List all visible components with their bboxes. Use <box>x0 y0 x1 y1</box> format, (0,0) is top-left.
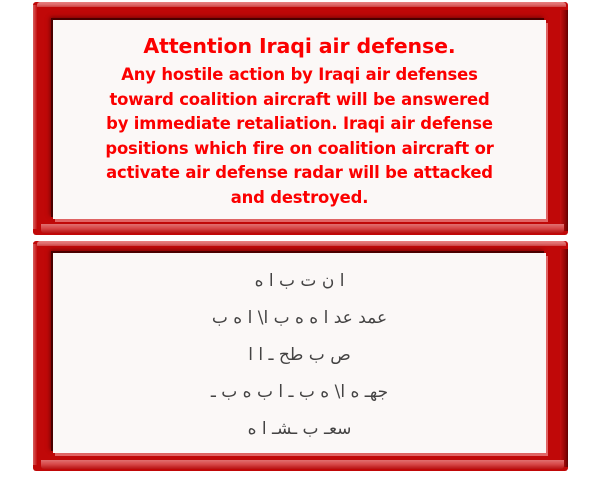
english-body-line-2: toward coalition aircraft will be answer… <box>53 88 546 113</box>
arabic-body-line-5: سعـ ب ـشـ ا ه <box>53 411 546 448</box>
english-text-field: Attention Iraqi air defense. Any hostile… <box>53 20 546 219</box>
arabic-text-block: ا ن ت ب ا ه عمد عد ا ه ه ب ا\ ا ه ب ص ب … <box>53 263 546 448</box>
english-body-line-4: positions which fire on coalition aircra… <box>53 137 546 162</box>
english-body-line-5: activate air defense radar will be attac… <box>53 161 546 186</box>
arabic-body-line-4: جهـ ه ا\ ه ب ـ ا ب ه ب ـ <box>53 374 546 411</box>
arabic-body-line-1: ا ن ت ب ا ه <box>53 263 546 300</box>
panel-right-shadow <box>560 249 568 467</box>
panel-bottom-highlight <box>41 460 564 469</box>
leaflet-graphic: Attention Iraqi air defense. Any hostile… <box>0 0 600 480</box>
english-message-panel: Attention Iraqi air defense. Any hostile… <box>33 2 568 235</box>
english-headline: Attention Iraqi air defense. <box>53 33 546 59</box>
panel-top-highlight <box>37 2 566 7</box>
english-body-line-6: and destroyed. <box>53 186 546 211</box>
arabic-body-line-3: ص ب طح ـ ا ا <box>53 337 546 374</box>
panel-left-highlight <box>33 5 37 229</box>
panel-bottom-highlight <box>41 224 564 233</box>
panel-left-highlight <box>33 244 37 465</box>
arabic-message-panel: ا ن ت ب ا ه عمد عد ا ه ه ب ا\ ا ه ب ص ب … <box>33 241 568 471</box>
english-body-line-3: by immediate retaliation. Iraqi air defe… <box>53 112 546 137</box>
english-paragraph: Any hostile action by Iraqi air defenses… <box>53 63 546 211</box>
arabic-text-field: ا ن ت ب ا ه عمد عد ا ه ه ب ا\ ا ه ب ص ب … <box>53 253 546 453</box>
english-text-block: Attention Iraqi air defense. Any hostile… <box>53 33 546 211</box>
arabic-body-line-2: عمد عد ا ه ه ب ا\ ا ه ب <box>53 300 546 337</box>
english-body-line-1: Any hostile action by Iraqi air defenses <box>53 63 546 88</box>
panel-right-shadow <box>560 10 568 231</box>
panel-top-highlight <box>37 241 566 246</box>
